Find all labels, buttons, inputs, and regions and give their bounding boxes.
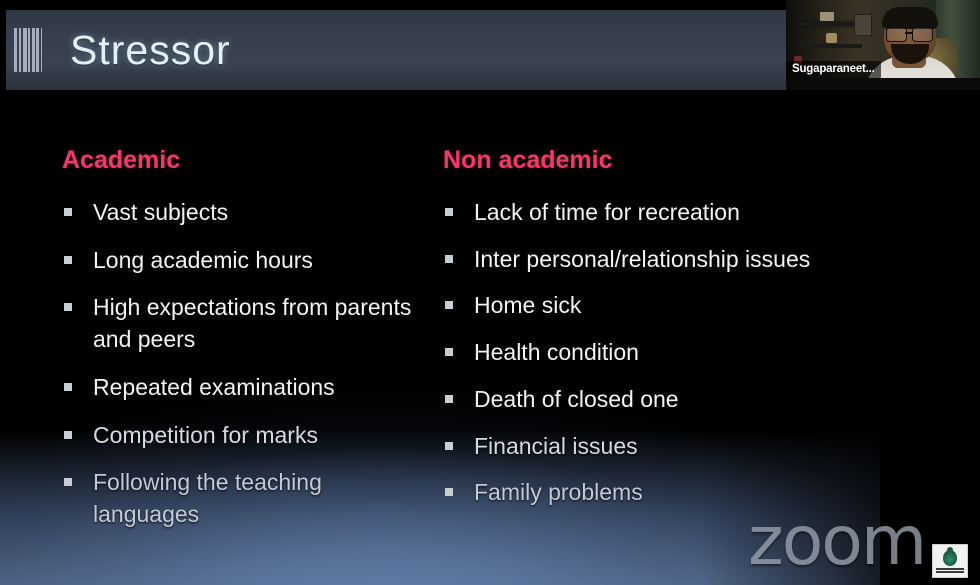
list-item: Lack of time for recreation <box>443 197 843 229</box>
page-title: Stressor <box>70 30 231 71</box>
list-item: Health condition <box>443 337 843 369</box>
video-background-object <box>820 12 834 21</box>
video-background-frame <box>854 14 872 36</box>
institution-logo <box>932 544 968 578</box>
slide-title-bar: Stressor <box>6 10 814 90</box>
video-background-object <box>826 33 837 43</box>
barcode-icon <box>14 28 42 72</box>
institution-logo-text <box>936 568 964 573</box>
list-item: Vast subjects <box>62 197 432 229</box>
list-item: Following the teaching languages <box>62 467 432 530</box>
bullet-list-academic: Vast subjects Long academic hours High e… <box>62 197 432 531</box>
column-heading-academic: Academic <box>62 148 432 173</box>
video-background-shelf <box>800 44 862 48</box>
video-tile-bottom-strip <box>786 78 980 90</box>
zoom-watermark: zoom <box>748 508 925 576</box>
column-heading-non-academic: Non academic <box>443 148 843 173</box>
video-person-hair <box>882 7 938 29</box>
video-person-glasses-right <box>912 27 933 42</box>
list-item: Long academic hours <box>62 245 432 277</box>
bullet-list-non-academic: Lack of time for recreation Inter person… <box>443 197 843 509</box>
list-item: Financial issues <box>443 431 843 463</box>
video-person-glasses-bridge <box>905 32 912 34</box>
list-item: High expectations from parents and peers <box>62 292 432 355</box>
column-academic: Academic Vast subjects Long academic hou… <box>62 148 432 547</box>
list-item: Competition for marks <box>62 420 432 452</box>
presentation-slide: Stressor Sugaparaneet... Academic Vast s… <box>0 0 980 585</box>
institution-logo-mark <box>943 550 957 566</box>
list-item: Home sick <box>443 290 843 322</box>
participant-name-label: Sugaparaneet... <box>786 61 881 78</box>
participant-video-tile[interactable]: Sugaparaneet... <box>786 0 980 90</box>
video-person-glasses-left <box>886 27 907 42</box>
list-item: Inter personal/relationship issues <box>443 244 843 276</box>
list-item: Repeated examinations <box>62 372 432 404</box>
column-non-academic: Non academic Lack of time for recreation… <box>443 148 843 524</box>
list-item: Death of closed one <box>443 384 843 416</box>
